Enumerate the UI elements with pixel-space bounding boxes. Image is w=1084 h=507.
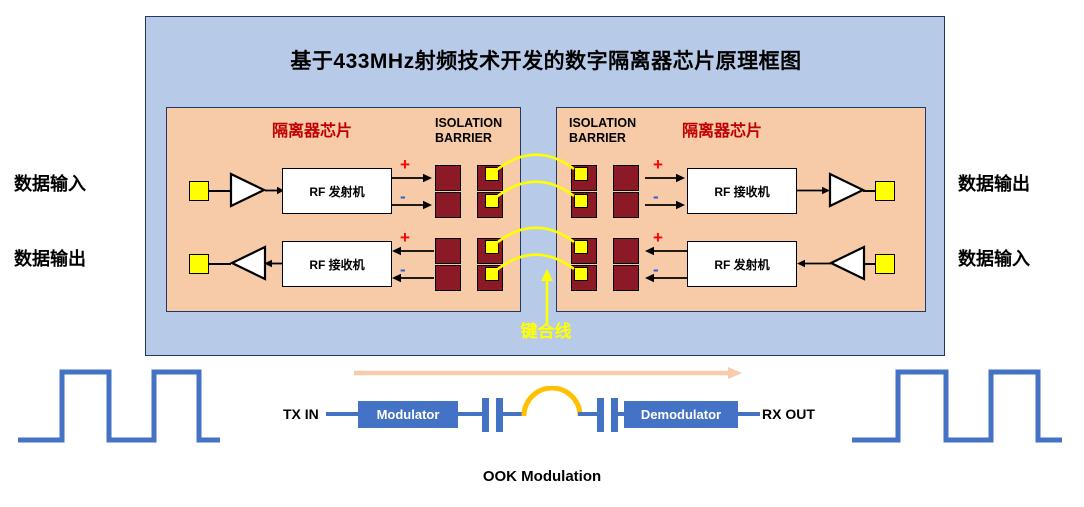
arrow-right-tx-from-amp [797, 255, 831, 273]
rf-receiver-right: RF 接收机 [687, 168, 797, 214]
barrier-pad-left-inner-4 [435, 265, 461, 291]
ook-modulation-caption: OOK Modulation [0, 468, 1084, 485]
label-data-input-left: 数据输入 [14, 170, 86, 196]
label-data-output-right: 数据输出 [958, 170, 1030, 196]
sign-left-rx-minus: - [400, 261, 406, 278]
rf-transmitter-left: RF 发射机 [282, 168, 392, 214]
capacitor-left-plate-2 [496, 398, 503, 432]
amplifier-left-rx [230, 245, 266, 281]
wire-txin-to-modulator [326, 412, 358, 416]
wire-left-tx-in [209, 190, 231, 192]
demodulator-block: Demodulator [624, 401, 738, 428]
bond-wire-4 [494, 255, 574, 272]
io-pad-right-rx [875, 181, 895, 201]
barrier-label-line1: ISOLATION [569, 116, 636, 131]
barrier-label-line2: BARRIER [435, 131, 502, 146]
bond-wire-arc-icon [520, 386, 584, 418]
arrow-right-tx-minus [645, 271, 687, 285]
barrier-label-line1: ISOLATION [435, 116, 502, 131]
arrow-left-rx-minus [392, 271, 434, 285]
arrow-right-rx-to-amp [797, 182, 831, 200]
isolator-chip-right: 隔离器芯片 ISOLATION BARRIER [556, 107, 926, 312]
isolation-barrier-label-right: ISOLATION BARRIER [569, 116, 636, 146]
barrier-pad-left-inner-3 [435, 238, 461, 264]
chip-left-title: 隔离器芯片 [272, 117, 352, 141]
label-data-input-right: 数据输入 [958, 245, 1030, 271]
io-pad-right-tx [875, 254, 895, 274]
barrier-pad-left-inner-2 [435, 192, 461, 218]
barrier-pad-right-inner-3 [613, 238, 639, 264]
chip-right-title: 隔离器芯片 [682, 117, 762, 141]
arrow-right-tx-plus [645, 244, 687, 258]
bond-wire-label: 键合线 [476, 317, 616, 342]
sign-left-rx-plus: + [400, 229, 410, 246]
bond-wire-3 [494, 228, 574, 245]
rx-out-label: RX OUT [762, 406, 815, 422]
bond-wire-2 [494, 182, 574, 199]
diagram-title: 基于433MHz射频技术开发的数字隔离器芯片原理框图 [146, 45, 946, 75]
arrow-left-tx-plus [392, 171, 434, 185]
arrow-left-rx-plus [392, 244, 434, 258]
signal-flow-arrow [352, 366, 744, 380]
arrow-left-tx-minus [392, 198, 434, 212]
barrier-pad-right-inner-2 [613, 192, 639, 218]
wire-demodulator-to-rxout [738, 412, 760, 416]
capacitor-right-plate-1 [597, 398, 604, 432]
io-pad-left-tx [189, 181, 209, 201]
barrier-label-line2: BARRIER [569, 131, 636, 146]
io-pad-left-rx [189, 254, 209, 274]
waveform-right [848, 362, 1070, 447]
diagram-canvas: 基于433MHz射频技术开发的数字隔离器芯片原理框图 隔离器芯片 ISOLATI… [0, 0, 1084, 507]
label-data-output-left: 数据输出 [14, 245, 86, 271]
amplifier-left-tx [230, 172, 266, 208]
barrier-pad-right-inner-1 [613, 165, 639, 191]
sign-left-tx-plus: + [400, 156, 410, 173]
amplifier-right-rx [829, 172, 865, 208]
barrier-pad-right-inner-4 [613, 265, 639, 291]
modulator-block: Modulator [358, 401, 458, 428]
waveform-left [14, 362, 224, 447]
main-diagram-panel: 基于433MHz射频技术开发的数字隔离器芯片原理框图 隔离器芯片 ISOLATI… [145, 16, 945, 356]
tx-in-label: TX IN [283, 406, 319, 422]
isolator-chip-left: 隔离器芯片 ISOLATION BARRIER RF 发射机 [166, 107, 521, 312]
arrow-left-rx-to-amp [264, 255, 284, 273]
wire-modulator-to-cap1 [458, 412, 483, 416]
sign-right-rx-minus: - [653, 188, 659, 205]
sign-right-tx-plus: + [653, 229, 663, 246]
sign-right-tx-minus: - [653, 261, 659, 278]
arrow-right-rx-plus [645, 171, 687, 185]
amplifier-right-tx [829, 245, 865, 281]
wire-left-rx-out [209, 263, 231, 265]
bond-wire-1 [494, 155, 574, 172]
rf-transmitter-right: RF 发射机 [687, 241, 797, 287]
rf-receiver-left: RF 接收机 [282, 241, 392, 287]
isolation-barrier-label-left: ISOLATION BARRIER [435, 116, 502, 146]
sign-right-rx-plus: + [653, 156, 663, 173]
capacitor-left-plate-1 [482, 398, 489, 432]
arrow-right-rx-minus [645, 198, 687, 212]
barrier-pad-left-inner-1 [435, 165, 461, 191]
sign-left-tx-minus: - [400, 188, 406, 205]
